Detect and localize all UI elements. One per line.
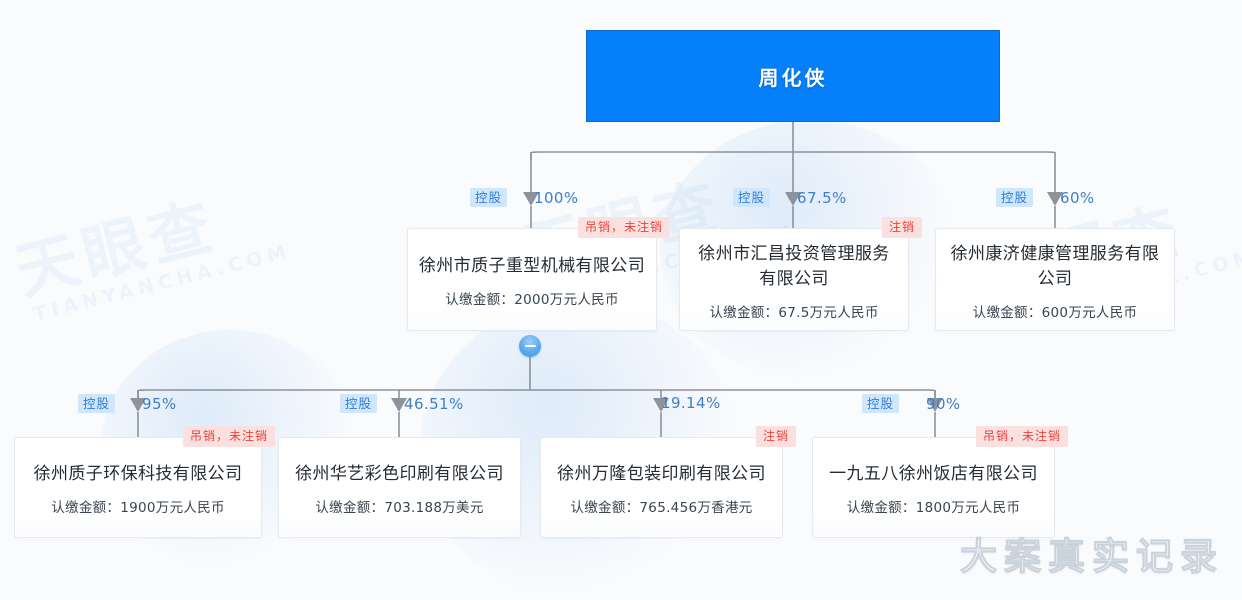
status-badge: 吊销，未注销 — [976, 426, 1068, 447]
company-name: 徐州市汇昌投资管理服务有限公司 — [690, 242, 898, 292]
company-node[interactable]: 徐州华艺彩色印刷有限公司 认缴金额：703.188万美元 — [278, 437, 521, 538]
ownership-percent: 100% — [534, 189, 578, 207]
ownership-percent: 46.51% — [404, 395, 464, 413]
ownership-percent: 60% — [1060, 189, 1095, 207]
status-badge: 注销 — [882, 217, 922, 238]
status-badge: 吊销，未注销 — [183, 426, 275, 447]
company-name: 徐州华艺彩色印刷有限公司 — [295, 462, 504, 487]
subscribed-capital: 认缴金额：765.456万香港元 — [570, 496, 752, 516]
subscribed-capital: 认缴金额：2000万元人民币 — [445, 288, 619, 308]
ownership-percent: 19.14% — [661, 394, 721, 412]
company-name: 徐州万隆包装印刷有限公司 — [557, 462, 766, 487]
status-badge: 注销 — [756, 426, 796, 447]
company-node[interactable]: 吊销，未注销 一九五八徐州饭店有限公司 认缴金额：1800万元人民币 — [812, 437, 1055, 538]
control-badge: 控股 — [78, 394, 115, 413]
subscribed-capital: 认缴金额：600万元人民币 — [973, 301, 1138, 321]
equity-structure-chart: 天眼查 TIANYANCHA.COM 天眼查 TIANYANCHA.COM 天眼… — [0, 0, 1242, 596]
control-badge: 控股 — [470, 188, 507, 207]
company-node[interactable]: 注销 徐州万隆包装印刷有限公司 认缴金额：765.456万香港元 — [540, 437, 783, 538]
ownership-percent: 90% — [926, 395, 961, 413]
subscribed-capital: 认缴金额：1800万元人民币 — [847, 496, 1021, 516]
company-node[interactable]: 注销 徐州市汇昌投资管理服务有限公司 认缴金额：67.5万元人民币 — [679, 228, 909, 331]
minus-icon — [525, 345, 536, 347]
subscribed-capital: 认缴金额：67.5万元人民币 — [709, 301, 878, 321]
watermark-bottom-right: 大案真实记录 — [960, 526, 1224, 580]
company-name: 一九五八徐州饭店有限公司 — [829, 462, 1038, 487]
control-badge: 控股 — [862, 394, 899, 413]
company-name: 徐州康济健康管理服务有限公司 — [946, 242, 1164, 292]
collapse-toggle-button[interactable] — [519, 335, 541, 357]
subscribed-capital: 认缴金额：1900万元人民币 — [51, 496, 225, 516]
root-node-person[interactable]: 周化侠 — [586, 30, 1000, 122]
company-node[interactable]: 徐州康济健康管理服务有限公司 认缴金额：600万元人民币 — [935, 228, 1175, 331]
ownership-percent: 95% — [142, 395, 177, 413]
control-badge: 控股 — [996, 188, 1033, 207]
company-node[interactable]: 吊销，未注销 徐州质子环保科技有限公司 认缴金额：1900万元人民币 — [14, 437, 262, 538]
edge-label-level2-3: 控股 60% — [996, 188, 1095, 207]
edge-label-level3-2: 控股 46.51% — [340, 394, 464, 413]
edge-label-level2-1: 控股 100% — [470, 188, 579, 207]
edge-label-level3-4: 控股 90% — [862, 394, 961, 413]
subscribed-capital: 认缴金额：703.188万美元 — [315, 496, 483, 516]
control-badge: 控股 — [733, 188, 770, 207]
company-node[interactable]: 吊销，未注销 徐州市质子重型机械有限公司 认缴金额：2000万元人民币 — [407, 228, 657, 331]
edge-label-level3-3: 19.14% — [640, 394, 721, 412]
control-badge: 控股 — [340, 394, 377, 413]
edge-label-level3-1: 控股 95% — [78, 394, 177, 413]
root-node-name: 周化侠 — [759, 62, 828, 91]
ownership-percent: 67.5% — [797, 189, 847, 207]
edge-label-level2-2: 控股 67.5% — [733, 188, 847, 207]
company-name: 徐州质子环保科技有限公司 — [34, 462, 243, 487]
company-name: 徐州市质子重型机械有限公司 — [419, 254, 645, 279]
status-badge: 吊销，未注销 — [578, 217, 670, 238]
